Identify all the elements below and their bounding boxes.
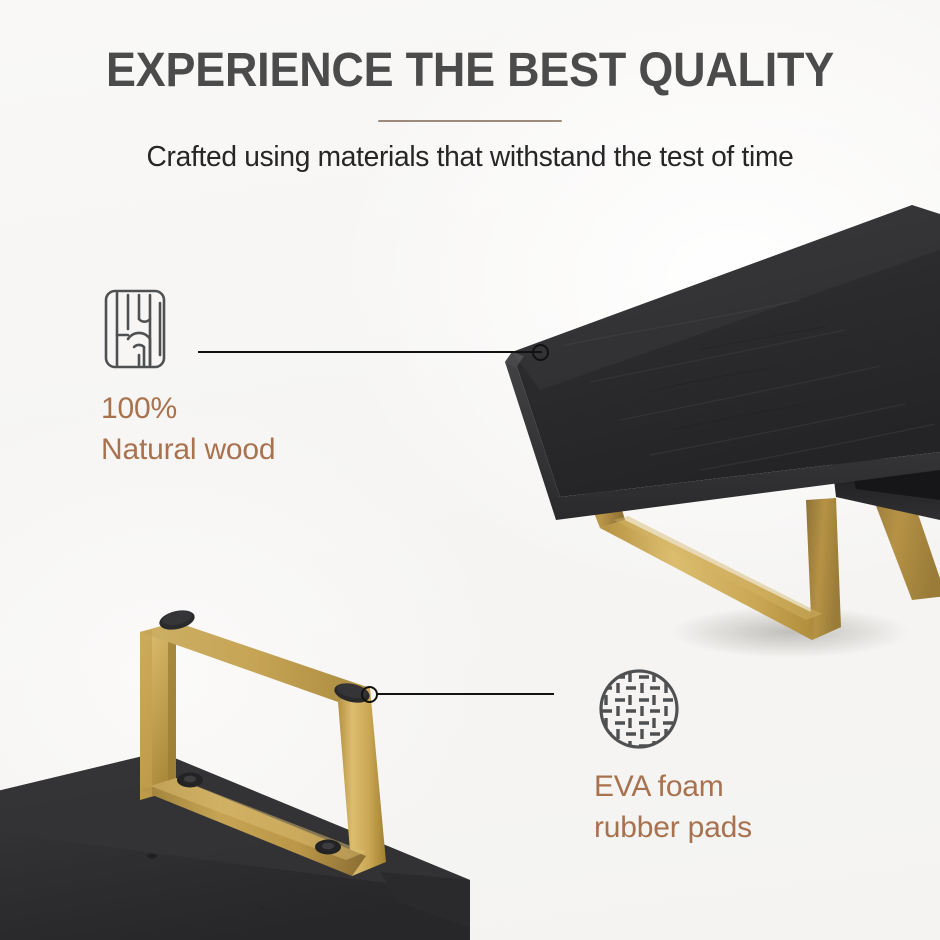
callout-eva-foam-line2: rubber pads (594, 807, 752, 848)
callout-eva-foam: EVA foam rubber pads (594, 766, 752, 848)
leader-endpoint-natural-wood (532, 344, 549, 361)
table-top-photo (505, 205, 940, 658)
wood-grain-icon (104, 289, 166, 374)
leader-line-natural-wood (198, 351, 542, 353)
callout-natural-wood: 100% Natural wood (101, 388, 275, 470)
title-divider (378, 120, 562, 122)
callout-eva-foam-line1: EVA foam (594, 766, 752, 807)
infographic-page: EXPERIENCE THE BEST QUALITY Crafted usin… (0, 0, 940, 940)
sled-leg-photo (0, 607, 470, 940)
callout-natural-wood-line2: Natural wood (101, 429, 275, 470)
woven-texture-circle-icon (598, 668, 680, 755)
leader-endpoint-eva-foam (361, 686, 378, 703)
leader-line-eva-foam (378, 693, 554, 695)
page-subtitle: Crafted using materials that withstand t… (14, 138, 926, 176)
callout-natural-wood-line1: 100% (101, 388, 275, 429)
page-title: EXPERIENCE THE BEST QUALITY (31, 44, 910, 98)
